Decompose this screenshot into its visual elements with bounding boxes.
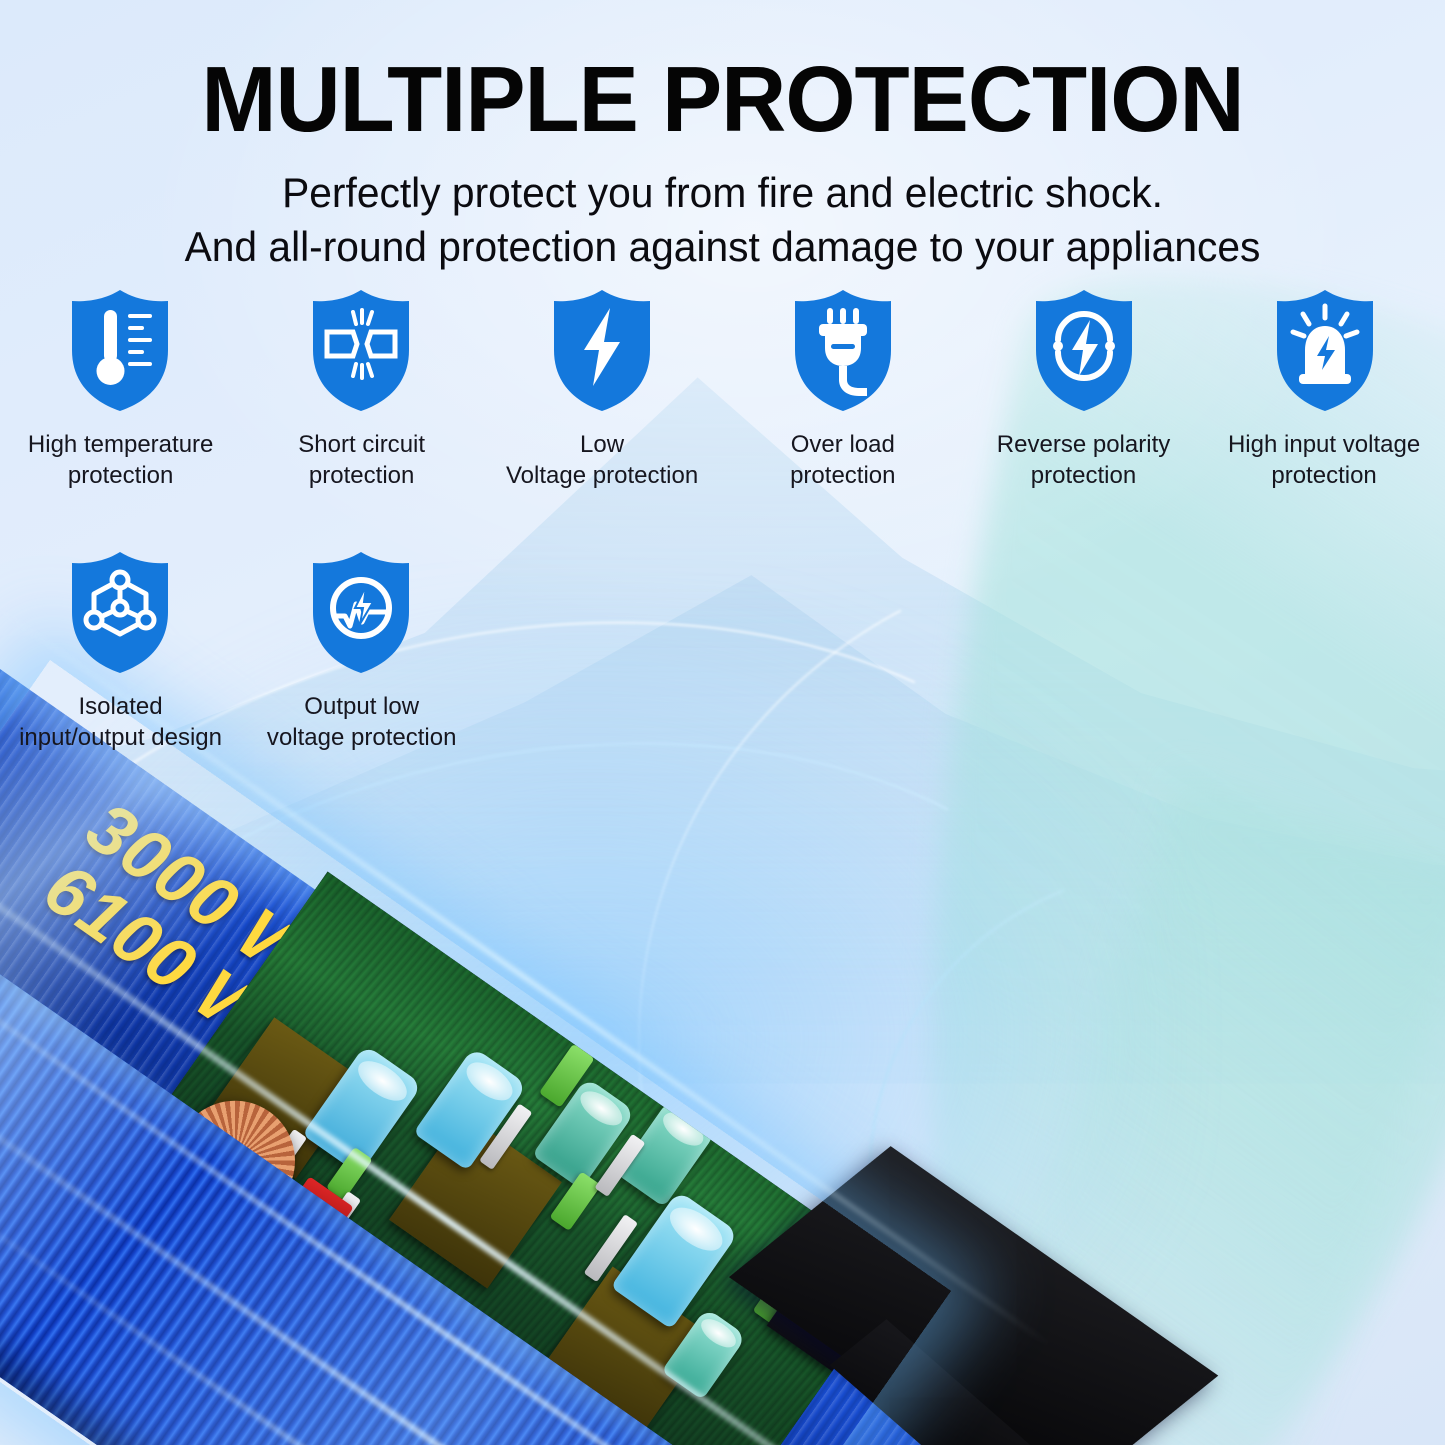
feature-item-short-circuit[interactable]: Short circuit protection <box>241 288 482 492</box>
feature-item-over-load[interactable]: Over load protection <box>722 288 963 492</box>
power-plug-icon <box>787 288 899 413</box>
feature-label: Reverse polarity protection <box>997 430 1170 492</box>
broken-wire-icon <box>305 288 417 413</box>
waveform-bolt-icon <box>305 550 417 675</box>
feature-item-reverse-polarity[interactable]: Reverse polarity protection <box>963 288 1204 492</box>
protection-feature-grid: High temperature protection <box>0 288 1445 753</box>
feature-row-1: High temperature protection <box>0 288 1445 492</box>
feature-spacer-3 <box>482 550 723 754</box>
feature-label: High temperature protection <box>28 430 214 492</box>
subtitle-line-1: Perfectly protect you from fire and elec… <box>22 167 1424 219</box>
feature-item-high-input-voltage[interactable]: High input voltage protection <box>1204 288 1445 492</box>
feature-spacer-4 <box>722 550 963 754</box>
feature-label: Over load protection <box>790 430 895 492</box>
feature-row-2: Isolated input/output design Output low … <box>0 550 1445 754</box>
feature-item-low-voltage[interactable]: Low Voltage protection <box>482 288 723 492</box>
feature-label: Short circuit protection <box>298 430 425 492</box>
subtitle-line-2: And all-round protection against damage … <box>22 221 1424 273</box>
reverse-polarity-icon <box>1028 288 1140 413</box>
feature-item-isolated-io[interactable]: Isolated input/output design <box>0 550 241 754</box>
feature-label: Isolated input/output design <box>19 692 222 754</box>
feature-item-output-low-voltage[interactable]: Output low voltage protection <box>241 550 482 754</box>
feature-label: Output low voltage protection <box>266 692 456 754</box>
feature-label: Low Voltage protection <box>506 430 698 492</box>
thermometer-icon <box>64 288 176 413</box>
infographic-canvas: MULTIPLE PROTECTION Perfectly protect yo… <box>0 0 1445 1445</box>
network-nodes-icon <box>64 550 176 675</box>
feature-item-high-temperature[interactable]: High temperature protection <box>0 288 241 492</box>
lightning-bolt-icon <box>546 288 658 413</box>
feature-spacer-5 <box>963 550 1204 754</box>
alarm-siren-icon <box>1269 288 1381 413</box>
feature-label: High input voltage protection <box>1228 430 1420 492</box>
page-title: MULTIPLE PROTECTION <box>22 50 1424 149</box>
feature-spacer-6 <box>1204 550 1445 754</box>
header-block: MULTIPLE PROTECTION Perfectly protect yo… <box>0 0 1445 273</box>
